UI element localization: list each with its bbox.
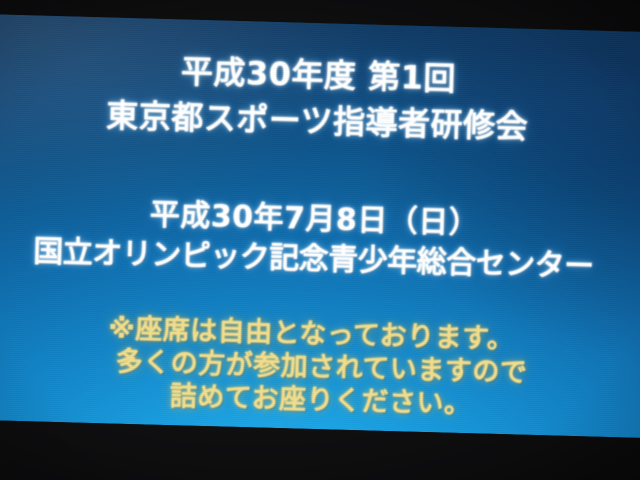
projection-screen: 平成30年度 第1回 東京都スポーツ指導者研修会 平成30年7月8日（日） 国立… [0,14,640,438]
seating-notice: ※座席は自由となっております。 多くの方が参加されていますので 詰めてお座りくだ… [0,309,640,426]
event-venue: 国立オリンピック記念青少年総合センター [0,236,640,284]
slide-title-line-1: 平成30年度 第1回 [0,50,640,100]
projector-photo: 平成30年度 第1回 東京都スポーツ指導者研修会 平成30年7月8日（日） 国立… [0,0,640,480]
slide-content: 平成30年度 第1回 東京都スポーツ指導者研修会 平成30年7月8日（日） 国立… [0,14,640,438]
slide-title-line-2: 東京都スポーツ指導者研修会 [0,96,640,146]
